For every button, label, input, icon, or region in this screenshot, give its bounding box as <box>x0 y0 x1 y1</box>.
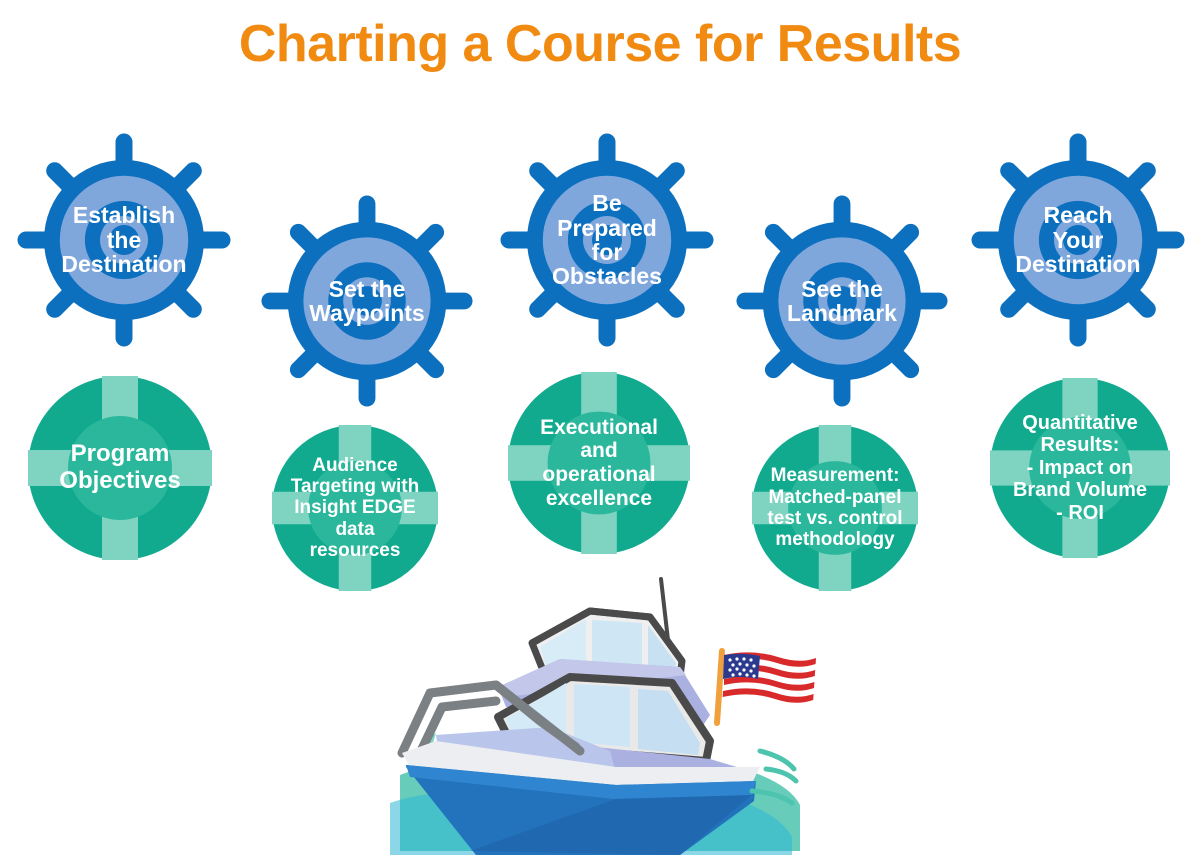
life-ring-icon <box>508 372 690 554</box>
life-ring-step-5[interactable]: Quantitative Results: - Impact on Brand … <box>990 378 1170 558</box>
ships-wheel-icon <box>968 130 1188 350</box>
life-ring-step-3[interactable]: Executional and operational excellence <box>508 372 690 554</box>
us-flag <box>717 651 816 723</box>
flag-pole <box>717 651 722 723</box>
page-title: Charting a Course for Results <box>0 16 1200 73</box>
ships-wheel-icon <box>733 192 951 410</box>
yacht-icon <box>380 555 840 855</box>
wheel-step-2[interactable]: Set the Waypoints <box>258 192 476 410</box>
motor-yacht-illustration <box>380 555 840 855</box>
life-ring-icon <box>990 378 1170 558</box>
ships-wheel-icon <box>14 130 234 350</box>
wheel-step-4[interactable]: See the Landmark <box>733 192 951 410</box>
wheel-step-3[interactable]: Be Prepared for Obstacles <box>497 130 717 350</box>
life-ring-step-1[interactable]: Program Objectives <box>28 376 212 560</box>
infographic-canvas: Charting a Course for Results <box>0 0 1200 858</box>
life-ring-icon <box>28 376 212 560</box>
wheel-step-5[interactable]: Reach Your Destination <box>968 130 1188 350</box>
ships-wheel-icon <box>258 192 476 410</box>
wheel-step-1[interactable]: Establish the Destination <box>14 130 234 350</box>
ships-wheel-icon <box>497 130 717 350</box>
